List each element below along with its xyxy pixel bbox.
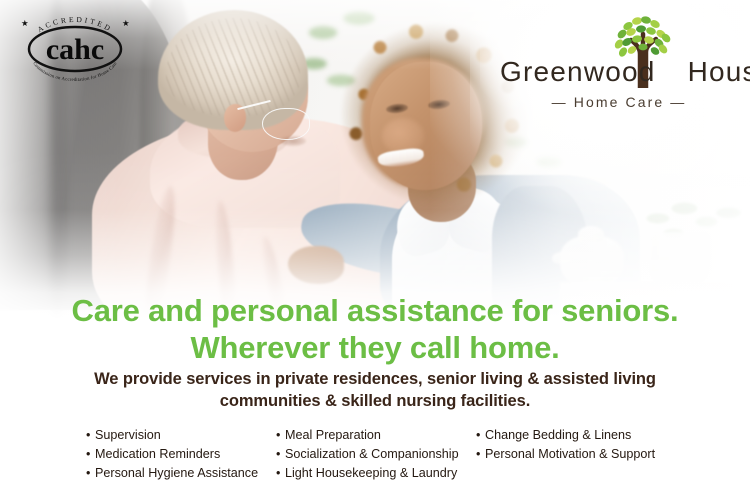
list-item-label: Medication Reminders xyxy=(95,447,220,461)
list-item: •Personal Motivation & Support xyxy=(476,445,676,464)
list-item: •Light Housekeeping & Laundry xyxy=(276,464,476,483)
cahc-accreditation-seal: ACCREDITED ★ ★ cahc Commission on Accred… xyxy=(16,12,134,84)
headline: Care and personal assistance for seniors… xyxy=(0,292,750,366)
bullet-icon: • xyxy=(476,426,485,445)
brand-word-house: House xyxy=(688,56,750,87)
list-item-label: Change Bedding & Linens xyxy=(485,428,631,442)
list-item: •Personal Hygiene Assistance xyxy=(86,464,276,483)
list-item-label: Meal Preparation xyxy=(285,428,381,442)
list-item-label: Personal Hygiene Assistance xyxy=(95,466,258,480)
list-item: •Supervision xyxy=(86,426,276,445)
tagline-dash-left: — xyxy=(552,94,568,110)
bullet-icon: • xyxy=(276,445,285,464)
bullet-icon: • xyxy=(86,464,95,483)
list-item: •Meal Preparation xyxy=(276,426,476,445)
brand-word-greenwood: Greenwood xyxy=(500,56,656,87)
eyeglasses-lens xyxy=(262,108,310,140)
list-item-label: Supervision xyxy=(95,428,161,442)
bullet-icon: • xyxy=(276,464,285,483)
headline-line-1: Care and personal assistance for seniors… xyxy=(0,292,750,329)
brand-wordmark: GreenwoodHouse xyxy=(500,56,738,88)
list-item-label: Personal Motivation & Support xyxy=(485,447,655,461)
star-right-icon: ★ xyxy=(122,18,130,28)
services-column-3: •Change Bedding & Linens •Personal Motiv… xyxy=(476,426,676,464)
services-column-2: •Meal Preparation •Socialization & Compa… xyxy=(276,426,476,483)
subheadline-line-2: communities & skilled nursing facilities… xyxy=(0,390,750,412)
headline-line-2: Wherever they call home. xyxy=(0,329,750,366)
greenwood-house-home-care-logo[interactable]: GreenwoodHouse — Home Care — xyxy=(500,14,738,106)
star-left-icon: ★ xyxy=(21,18,29,28)
list-item: •Socialization & Companionship xyxy=(276,445,476,464)
advertisement-banner: ACCREDITED ★ ★ cahc Commission on Accred… xyxy=(0,0,750,500)
bullet-icon: • xyxy=(86,445,95,464)
bullet-icon: • xyxy=(476,445,485,464)
subheadline: We provide services in private residence… xyxy=(0,368,750,412)
tagline-dash-right: — xyxy=(670,94,686,110)
bullet-icon: • xyxy=(276,426,285,445)
services-list: •Supervision •Medication Reminders •Pers… xyxy=(86,426,686,483)
list-item-label: Socialization & Companionship xyxy=(285,447,459,461)
list-item-label: Light Housekeeping & Laundry xyxy=(285,466,457,480)
brand-tagline: — Home Care — xyxy=(500,94,738,110)
list-item: •Medication Reminders xyxy=(86,445,276,464)
cahc-acronym: cahc xyxy=(46,33,104,66)
list-item: •Change Bedding & Linens xyxy=(476,426,676,445)
tagline-text: Home Care xyxy=(574,94,664,110)
services-column-1: •Supervision •Medication Reminders •Pers… xyxy=(86,426,276,483)
subheadline-line-1: We provide services in private residence… xyxy=(0,368,750,390)
bullet-icon: • xyxy=(86,426,95,445)
